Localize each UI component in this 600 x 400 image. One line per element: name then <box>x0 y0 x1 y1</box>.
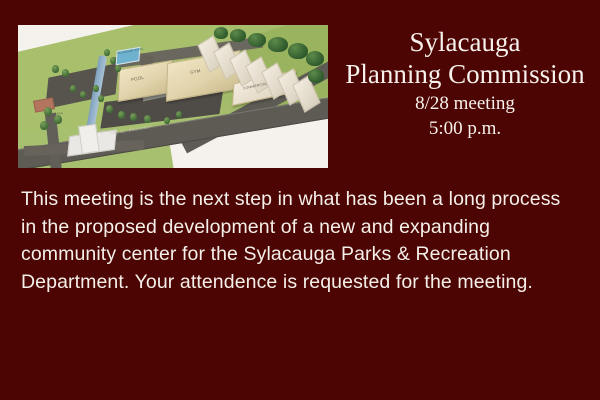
tree-1 <box>104 49 110 56</box>
tree-11 <box>62 69 69 77</box>
tree-2 <box>110 57 116 64</box>
tree-cluster-5 <box>288 43 308 59</box>
tree-cluster-2 <box>230 29 246 42</box>
tree-9 <box>144 115 151 123</box>
tree-cluster-3 <box>248 33 266 47</box>
tree-10 <box>52 65 59 73</box>
tree-8 <box>130 113 137 121</box>
tree-16 <box>80 91 86 98</box>
page-title: Sylacauga <box>336 26 594 58</box>
tree-cluster-1 <box>214 27 228 39</box>
heading-block: Sylacauga Planning Commission 8/28 meeti… <box>336 26 594 141</box>
tree-4 <box>93 85 99 92</box>
tree-3 <box>115 65 121 72</box>
tree-5 <box>98 95 104 102</box>
tree-7 <box>118 111 125 119</box>
tree-cluster-7 <box>308 69 324 83</box>
meeting-time: 5:00 p.m. <box>336 116 594 141</box>
slide-canvas: OUTDOOR POOL POOL GYM COMMERCIAL DOG PAR… <box>0 0 600 400</box>
tree-15 <box>70 85 76 92</box>
tree-cluster-4 <box>268 37 288 52</box>
building-white-lower-wing <box>78 124 100 154</box>
tree-18 <box>176 111 182 118</box>
meeting-date: 8/28 meeting <box>336 91 594 116</box>
announcement-text: This meeting is the next step in what ha… <box>21 186 566 296</box>
tree-cluster-6 <box>306 51 324 66</box>
tree-6 <box>106 105 113 113</box>
tree-14 <box>40 121 48 130</box>
tree-17 <box>164 117 170 124</box>
site-plan-image: OUTDOOR POOL POOL GYM COMMERCIAL DOG PAR… <box>18 25 328 168</box>
page-subtitle: Planning Commission <box>336 58 594 91</box>
